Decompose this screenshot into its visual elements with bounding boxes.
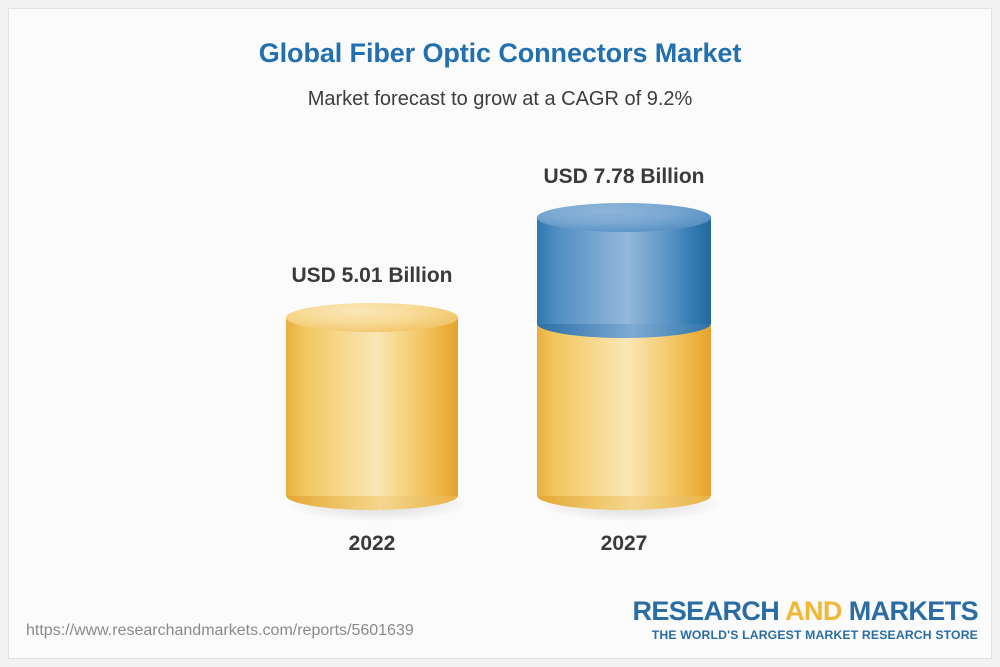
bar-cylinder-cap-2022 (286, 303, 458, 332)
bar-cylinder-cap-2027 (537, 203, 711, 232)
plot-area: USD 5.01 Billion 2022 USD 7.78 Billion (0, 0, 1000, 667)
source-url[interactable]: https://www.researchandmarkets.com/repor… (26, 622, 414, 640)
category-label-2022: 2022 (286, 532, 458, 556)
bar-cylinder-body-2022 (286, 317, 458, 496)
logo-word-research: RESEARCH (632, 596, 785, 626)
logo-tagline: THE WORLD'S LARGEST MARKET RESEARCH STOR… (632, 629, 978, 642)
category-label-2027: 2027 (537, 532, 711, 556)
bar-segment-growth-2027 (537, 217, 711, 324)
chart-canvas: Global Fiber Optic Connectors Market Mar… (0, 0, 1000, 667)
value-label-2022: USD 5.01 Billion (226, 264, 518, 288)
logo-word-markets: MARKETS (842, 596, 978, 626)
bar-group-2022: USD 5.01 Billion 2022 (286, 0, 458, 667)
logo-wordmark: RESEARCH AND MARKETS (632, 598, 978, 626)
bar-cylinder-2022[interactable] (286, 303, 458, 510)
bar-group-2027: USD 7.78 Billion 2027 (537, 0, 711, 667)
bar-cylinder-2027[interactable] (537, 203, 711, 510)
value-label-2027: USD 7.78 Billion (477, 165, 771, 189)
bar-segment-base-2027 (537, 323, 711, 496)
logo-word-and: AND (785, 596, 842, 626)
brand-logo[interactable]: RESEARCH AND MARKETS THE WORLD'S LARGEST… (632, 598, 978, 642)
